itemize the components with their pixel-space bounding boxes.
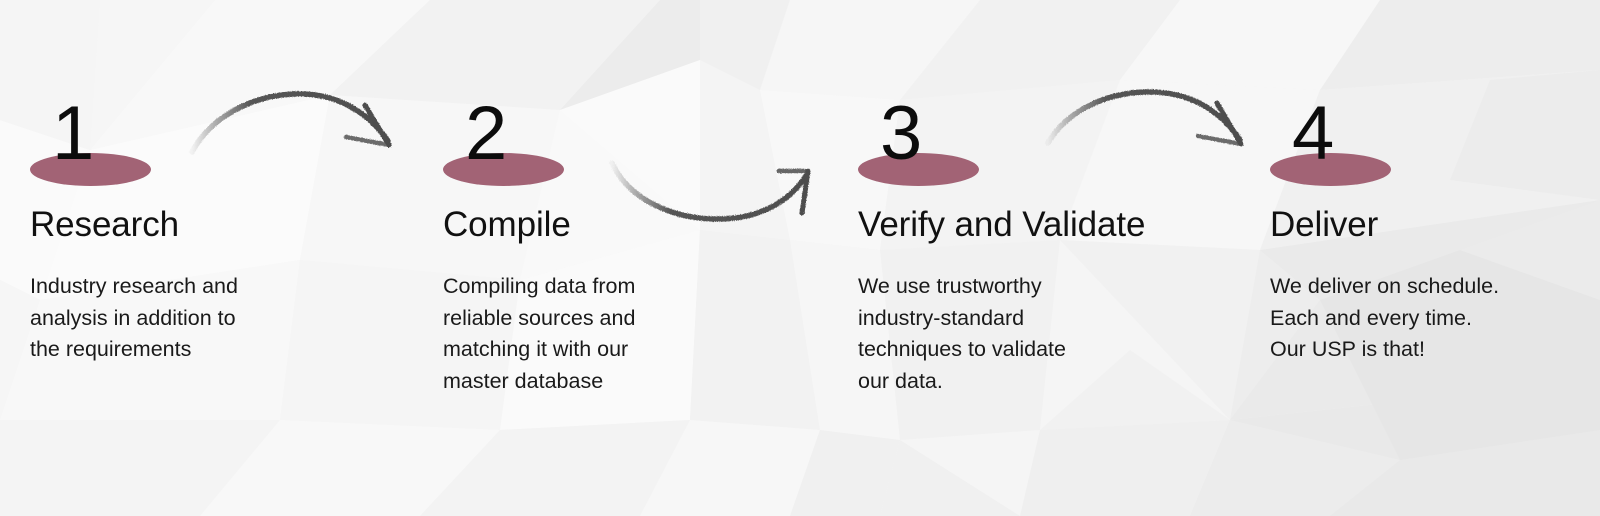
- step-badge-2: 2: [443, 96, 635, 191]
- step-number-4: 4: [1292, 96, 1333, 172]
- process-step-4: 4 Deliver We deliver on schedule. Each a…: [1270, 96, 1499, 366]
- step-body-3: We use trustworthy industry-standard tec…: [858, 271, 1145, 397]
- step-number-2: 2: [465, 96, 506, 172]
- step-title-1: Research: [30, 205, 238, 245]
- step-title-3: Verify and Validate: [858, 205, 1145, 245]
- step-title-2: Compile: [443, 205, 635, 245]
- process-flow-infographic: 1 Research Industry research and analysi…: [0, 0, 1600, 516]
- process-step-3: 3 Verify and Validate We use trustworthy…: [858, 96, 1145, 397]
- step-badge-3: 3: [858, 96, 1145, 191]
- step-body-2: Compiling data from reliable sources and…: [443, 271, 635, 397]
- step-badge-1: 1: [30, 96, 238, 191]
- step-number-3: 3: [880, 96, 921, 172]
- step-badge-4: 4: [1270, 96, 1499, 191]
- step-body-1: Industry research and analysis in additi…: [30, 271, 238, 366]
- step-number-1: 1: [52, 96, 93, 172]
- process-step-1: 1 Research Industry research and analysi…: [30, 96, 238, 366]
- step-title-4: Deliver: [1270, 205, 1499, 245]
- step-body-4: We deliver on schedule. Each and every t…: [1270, 271, 1499, 366]
- process-step-2: 2 Compile Compiling data from reliable s…: [443, 96, 635, 397]
